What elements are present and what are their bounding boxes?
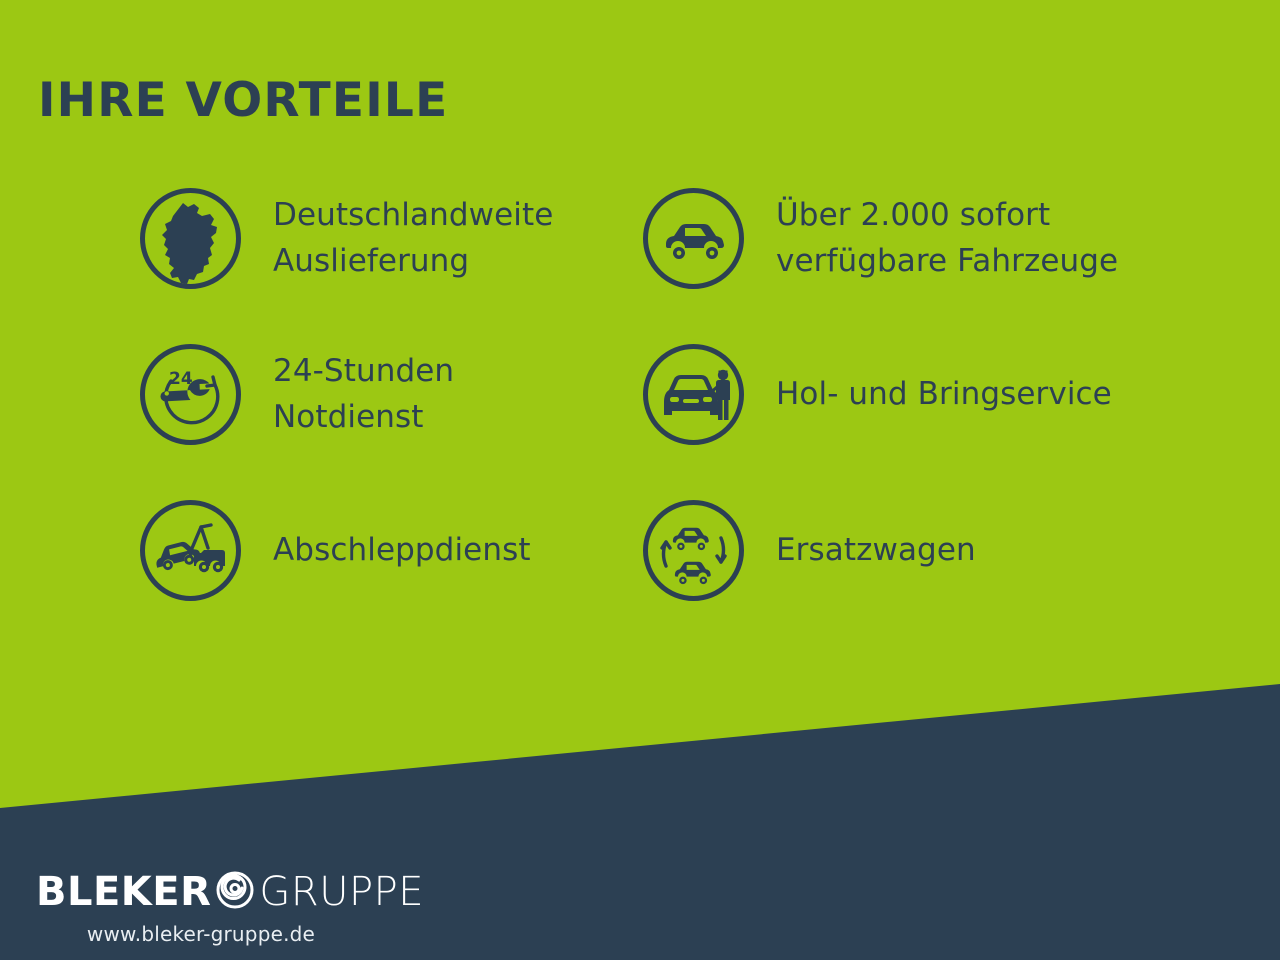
benefit-item-deutschlandweite-auslieferung: Deutschlandweite Auslieferung xyxy=(138,186,553,291)
spiral-mark-icon xyxy=(207,860,263,916)
germany-map-icon xyxy=(138,186,243,291)
benefit-label: Ersatzwagen xyxy=(776,528,976,574)
car-side-icon xyxy=(641,186,746,291)
benefit-label: Abschleppdienst xyxy=(273,528,531,574)
benefit-label: 24-Stunden Notdienst xyxy=(273,349,454,441)
benefit-label: Über 2.000 sofort verfügbare Fahrzeuge xyxy=(776,193,1118,285)
car-front-with-person-icon xyxy=(641,342,746,447)
logo-name-light: GRUPPE xyxy=(259,872,424,912)
benefits-grid: Deutschlandweite Auslieferung Über 2.000… xyxy=(0,186,1280,666)
benefit-item-hol-und-bringservice: Hol- und Bringservice xyxy=(641,342,1112,447)
benefit-item-abschleppdienst: Abschleppdienst xyxy=(138,498,531,603)
benefit-item-ersatzwagen: Ersatzwagen xyxy=(641,498,976,603)
logo-name-bold: BLEKER xyxy=(36,872,211,912)
logo-website-url[interactable]: www.bleker-gruppe.de xyxy=(36,922,366,946)
benefit-label: Hol- und Bringservice xyxy=(776,372,1112,418)
tow-truck-icon xyxy=(138,498,243,603)
two-cars-exchange-icon xyxy=(641,498,746,603)
slide-ihre-vorteile: IHRE VORTEILE Deutschlandweite Ausliefer… xyxy=(0,0,1280,960)
logo-wordmark-row: BLEKER GRUPPE xyxy=(36,866,376,918)
benefit-item-notdienst: 24 24-Stunden Notdienst xyxy=(138,342,454,447)
logo-bleker-gruppe[interactable]: BLEKER GRUPPE www.bleker-gruppe.de xyxy=(36,866,376,950)
24h-wrench-icon: 24 xyxy=(138,342,243,447)
page-title: IHRE VORTEILE xyxy=(38,76,448,125)
benefit-label: Deutschlandweite Auslieferung xyxy=(273,193,553,285)
benefit-item-sofort-verfuegbare-fahrzeuge: Über 2.000 sofort verfügbare Fahrzeuge xyxy=(641,186,1118,291)
